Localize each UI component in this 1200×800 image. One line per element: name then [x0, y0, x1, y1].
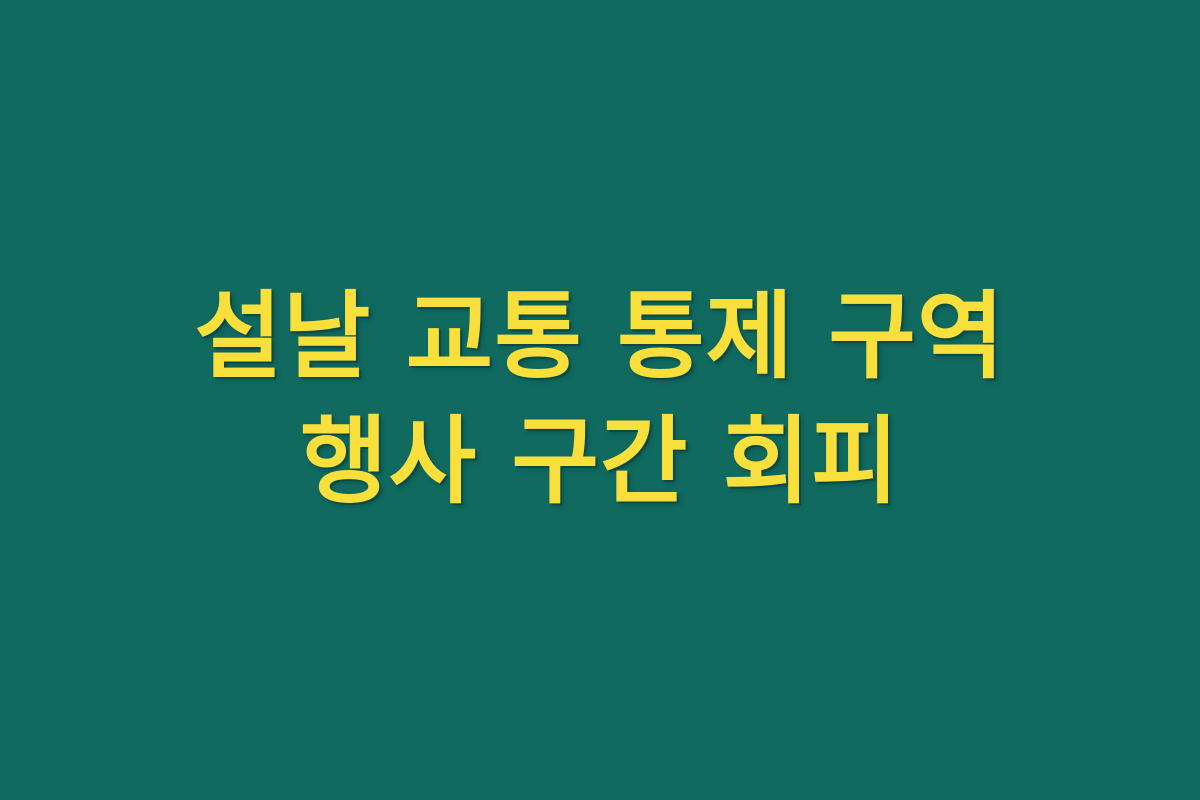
banner-text-block: 설날 교통 통제 구역 행사 구간 회피: [100, 275, 1100, 526]
banner-card: 설날 교통 통제 구역 행사 구간 회피: [0, 0, 1200, 800]
banner-headline: 설날 교통 통제 구역 행사 구간 회피: [120, 275, 1080, 526]
